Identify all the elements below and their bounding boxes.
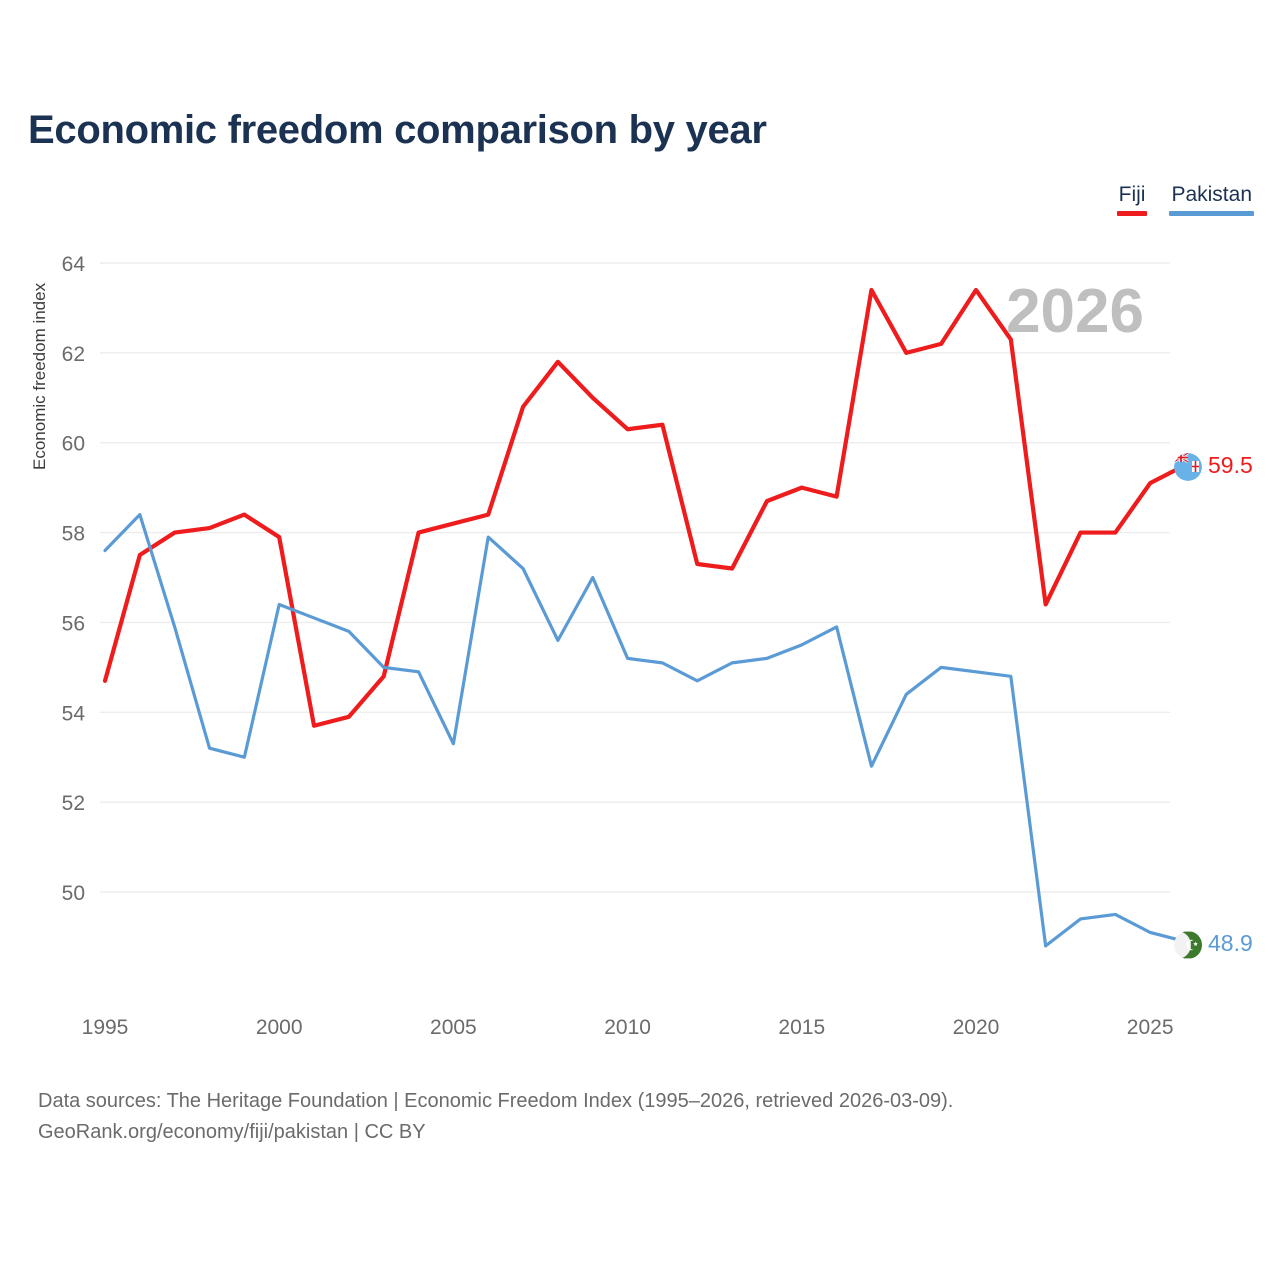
x-axis-tick-label: 2020: [953, 1016, 1000, 1039]
x-axis-tick-label: 2010: [604, 1016, 651, 1039]
y-axis-tick-label: 52: [62, 792, 85, 815]
x-axis-tick-label: 1995: [82, 1016, 129, 1039]
pakistan-flag-icon: [1174, 931, 1202, 959]
y-axis-title: Economic freedom index: [30, 283, 50, 470]
y-axis-tick-label: 54: [62, 702, 86, 725]
x-axis-tick-label: 2015: [778, 1016, 825, 1039]
series-line-pakistan[interactable]: [105, 515, 1185, 946]
end-label-pakistan: 48.9: [1208, 930, 1253, 957]
y-axis-tick-label: 56: [62, 612, 85, 635]
y-axis-tick-label: 58: [62, 523, 85, 546]
year-watermark: 2026: [1006, 281, 1144, 343]
chart-page: Economic freedom comparison by year Fiji…: [0, 0, 1280, 1280]
y-axis-tick-label: 60: [62, 433, 85, 456]
fiji-flag-icon: [1174, 453, 1202, 481]
footer-sources: Data sources: The Heritage Foundation | …: [38, 1086, 953, 1148]
x-axis-tick-label: 2000: [256, 1016, 303, 1039]
footer-line-2: GeoRank.org/economy/fiji/pakistan | CC B…: [38, 1117, 953, 1148]
y-axis-tick-label: 64: [62, 253, 86, 276]
x-axis-tick-label: 2005: [430, 1016, 477, 1039]
y-axis-tick-label: 50: [62, 882, 85, 905]
x-axis-tick-label: 2025: [1127, 1016, 1174, 1039]
footer-line-1: Data sources: The Heritage Foundation | …: [38, 1086, 953, 1117]
end-label-fiji: 59.5: [1208, 452, 1253, 479]
y-axis-tick-label: 62: [62, 343, 85, 366]
